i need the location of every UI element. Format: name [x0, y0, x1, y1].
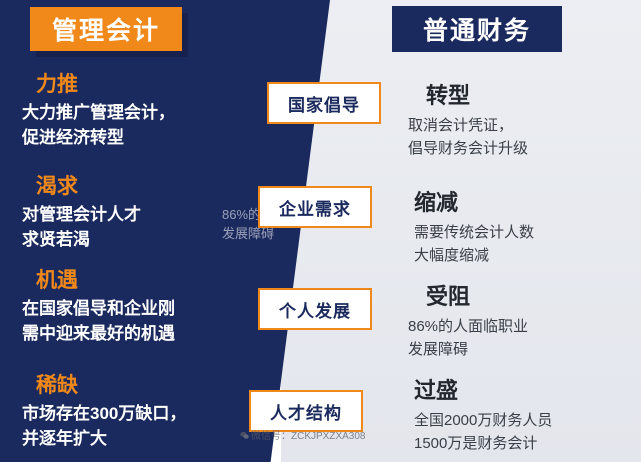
infographic-canvas: 管理会计 普通财务 力推 大力推广管理会计， 促进经济转型 渴求 对管理会计人才…	[0, 0, 641, 462]
left-block-3-line-2: 需中迎来最好的机遇	[22, 321, 272, 346]
right-block-4-line-2: 1500万是财务会计	[414, 432, 623, 455]
left-block-4: 稀缺 市场存在300万缺口， 并逐年扩大	[22, 373, 272, 451]
left-block-2-body: 对管理会计人才 求贤若渴	[22, 202, 272, 252]
right-block-1-body: 取消会计凭证， 倡导财务会计升级	[408, 114, 623, 160]
right-block-3-title: 受阻	[426, 283, 623, 311]
right-block-2-title: 缩减	[414, 189, 623, 217]
right-block-4: 过盛 全国2000万财务人员 1500万是财务会计	[408, 377, 623, 455]
left-block-3: 机遇 在国家倡导和企业刚 需中迎来最好的机遇	[22, 268, 272, 346]
left-block-2-line-1: 对管理会计人才	[22, 202, 272, 227]
callout-enterprise-demand[interactable]: 企业需求	[258, 186, 372, 228]
right-block-2-line-1: 需要传统会计人数	[414, 221, 623, 244]
right-block-1-line-2: 倡导财务会计升级	[408, 137, 623, 160]
left-block-1-body: 大力推广管理会计， 促进经济转型	[22, 100, 272, 150]
right-block-4-line-1: 全国2000万财务人员	[414, 409, 623, 432]
left-block-1-title: 力推	[36, 72, 272, 98]
right-block-1-title: 转型	[426, 82, 623, 110]
left-block-1-line-1: 大力推广管理会计，	[22, 100, 272, 125]
left-block-4-title: 稀缺	[36, 373, 272, 399]
right-block-3: 受阻 86%的人面临职业 发展障碍	[408, 283, 623, 361]
right-block-1: 转型 取消会计凭证， 倡导财务会计升级	[408, 82, 623, 160]
left-header-title: 管理会计	[30, 7, 182, 51]
left-block-4-line-1: 市场存在300万缺口，	[22, 401, 272, 426]
left-block-1: 力推 大力推广管理会计， 促进经济转型	[22, 72, 272, 150]
right-block-2: 缩减 需要传统会计人数 大幅度缩减	[408, 189, 623, 267]
right-block-3-body: 86%的人面临职业 发展障碍	[408, 315, 623, 361]
right-block-3-line-1: 86%的人面临职业	[408, 315, 623, 338]
left-block-3-title: 机遇	[36, 268, 272, 294]
right-block-4-title: 过盛	[414, 377, 623, 405]
callout-talent-structure[interactable]: 人才结构	[249, 390, 363, 432]
right-block-4-body: 全国2000万财务人员 1500万是财务会计	[414, 409, 623, 455]
left-block-2-title: 渴求	[36, 174, 272, 200]
right-block-2-line-2: 大幅度缩减	[414, 244, 623, 267]
right-block-3-line-2: 发展障碍	[408, 338, 623, 361]
left-block-1-line-2: 促进经济转型	[22, 125, 272, 150]
left-block-3-line-1: 在国家倡导和企业刚	[22, 296, 272, 321]
right-block-2-body: 需要传统会计人数 大幅度缩减	[414, 221, 623, 267]
left-block-2-line-2: 求贤若渴	[22, 227, 272, 252]
left-block-4-body: 市场存在300万缺口， 并逐年扩大	[22, 401, 272, 451]
callout-personal-development[interactable]: 个人发展	[258, 288, 372, 330]
right-header-title: 普通财务	[392, 6, 562, 52]
left-block-2: 渴求 对管理会计人才 求贤若渴	[22, 174, 272, 252]
right-block-1-line-1: 取消会计凭证，	[408, 114, 623, 137]
left-block-4-line-2: 并逐年扩大	[22, 426, 272, 451]
callout-national-advocacy[interactable]: 国家倡导	[267, 82, 381, 124]
left-block-3-body: 在国家倡导和企业刚 需中迎来最好的机遇	[22, 296, 272, 346]
